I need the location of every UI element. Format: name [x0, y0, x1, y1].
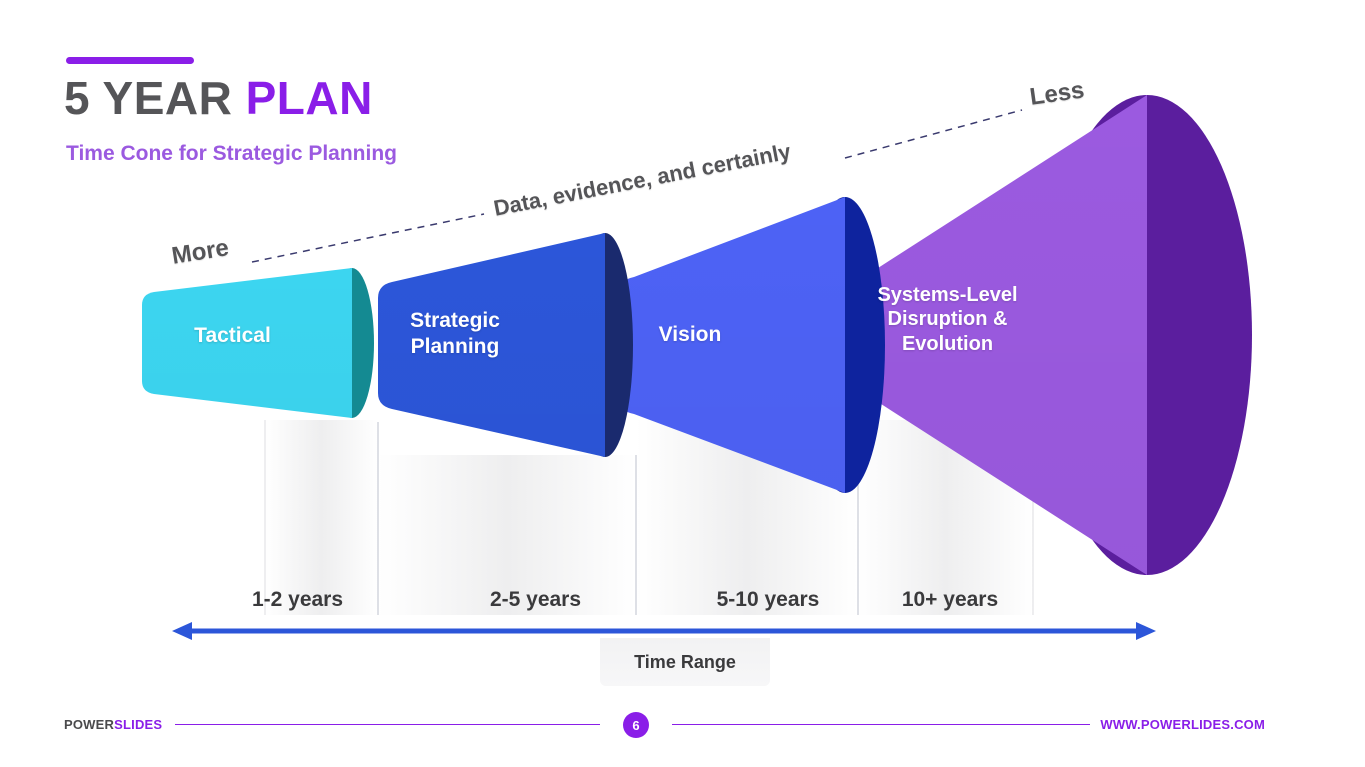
title-primary: 5 YEAR: [64, 72, 246, 124]
time-label-1-2-years: 1-2 years: [205, 588, 390, 612]
footer-divider-left: [175, 724, 600, 725]
footer-logo-power: POWER: [64, 717, 114, 732]
segment-label-vision: Vision: [605, 322, 775, 348]
annotation-more: More: [170, 234, 231, 271]
time-label-10-plus-years: 10+ years: [855, 588, 1045, 612]
page-number-badge: 6: [623, 712, 649, 738]
footer-logo-slides: SLIDES: [114, 717, 162, 732]
footer-url: WWW.POWERLIDES.COM: [1100, 717, 1265, 732]
page-title: 5 YEAR PLAN: [64, 73, 373, 124]
annotation-evidence: Data, evidence, and certainly: [492, 139, 793, 222]
slide-canvas: 5 YEAR PLAN Time Cone for Strategic Plan…: [0, 0, 1365, 767]
segment-label-tactical: Tactical: [150, 323, 315, 349]
annotation-less: Less: [1028, 77, 1086, 112]
title-highlight: PLAN: [246, 72, 373, 124]
time-range-label: Time Range: [634, 652, 736, 673]
segment-label-systems: Systems-Level Disruption & Evolution: [855, 283, 1040, 356]
time-label-5-10-years: 5-10 years: [673, 588, 863, 612]
footer-logo: POWERSLIDES: [64, 717, 162, 732]
title-accent-bar: [66, 57, 194, 64]
timeline-tick-panels: [265, 420, 1033, 615]
page-subtitle: Time Cone for Strategic Planning: [66, 142, 397, 166]
segment-label-strategic: Strategic Planning: [370, 308, 540, 359]
time-range-box: Time Range: [600, 638, 770, 686]
time-label-2-5-years: 2-5 years: [443, 588, 628, 612]
footer-divider-right: [672, 724, 1090, 725]
